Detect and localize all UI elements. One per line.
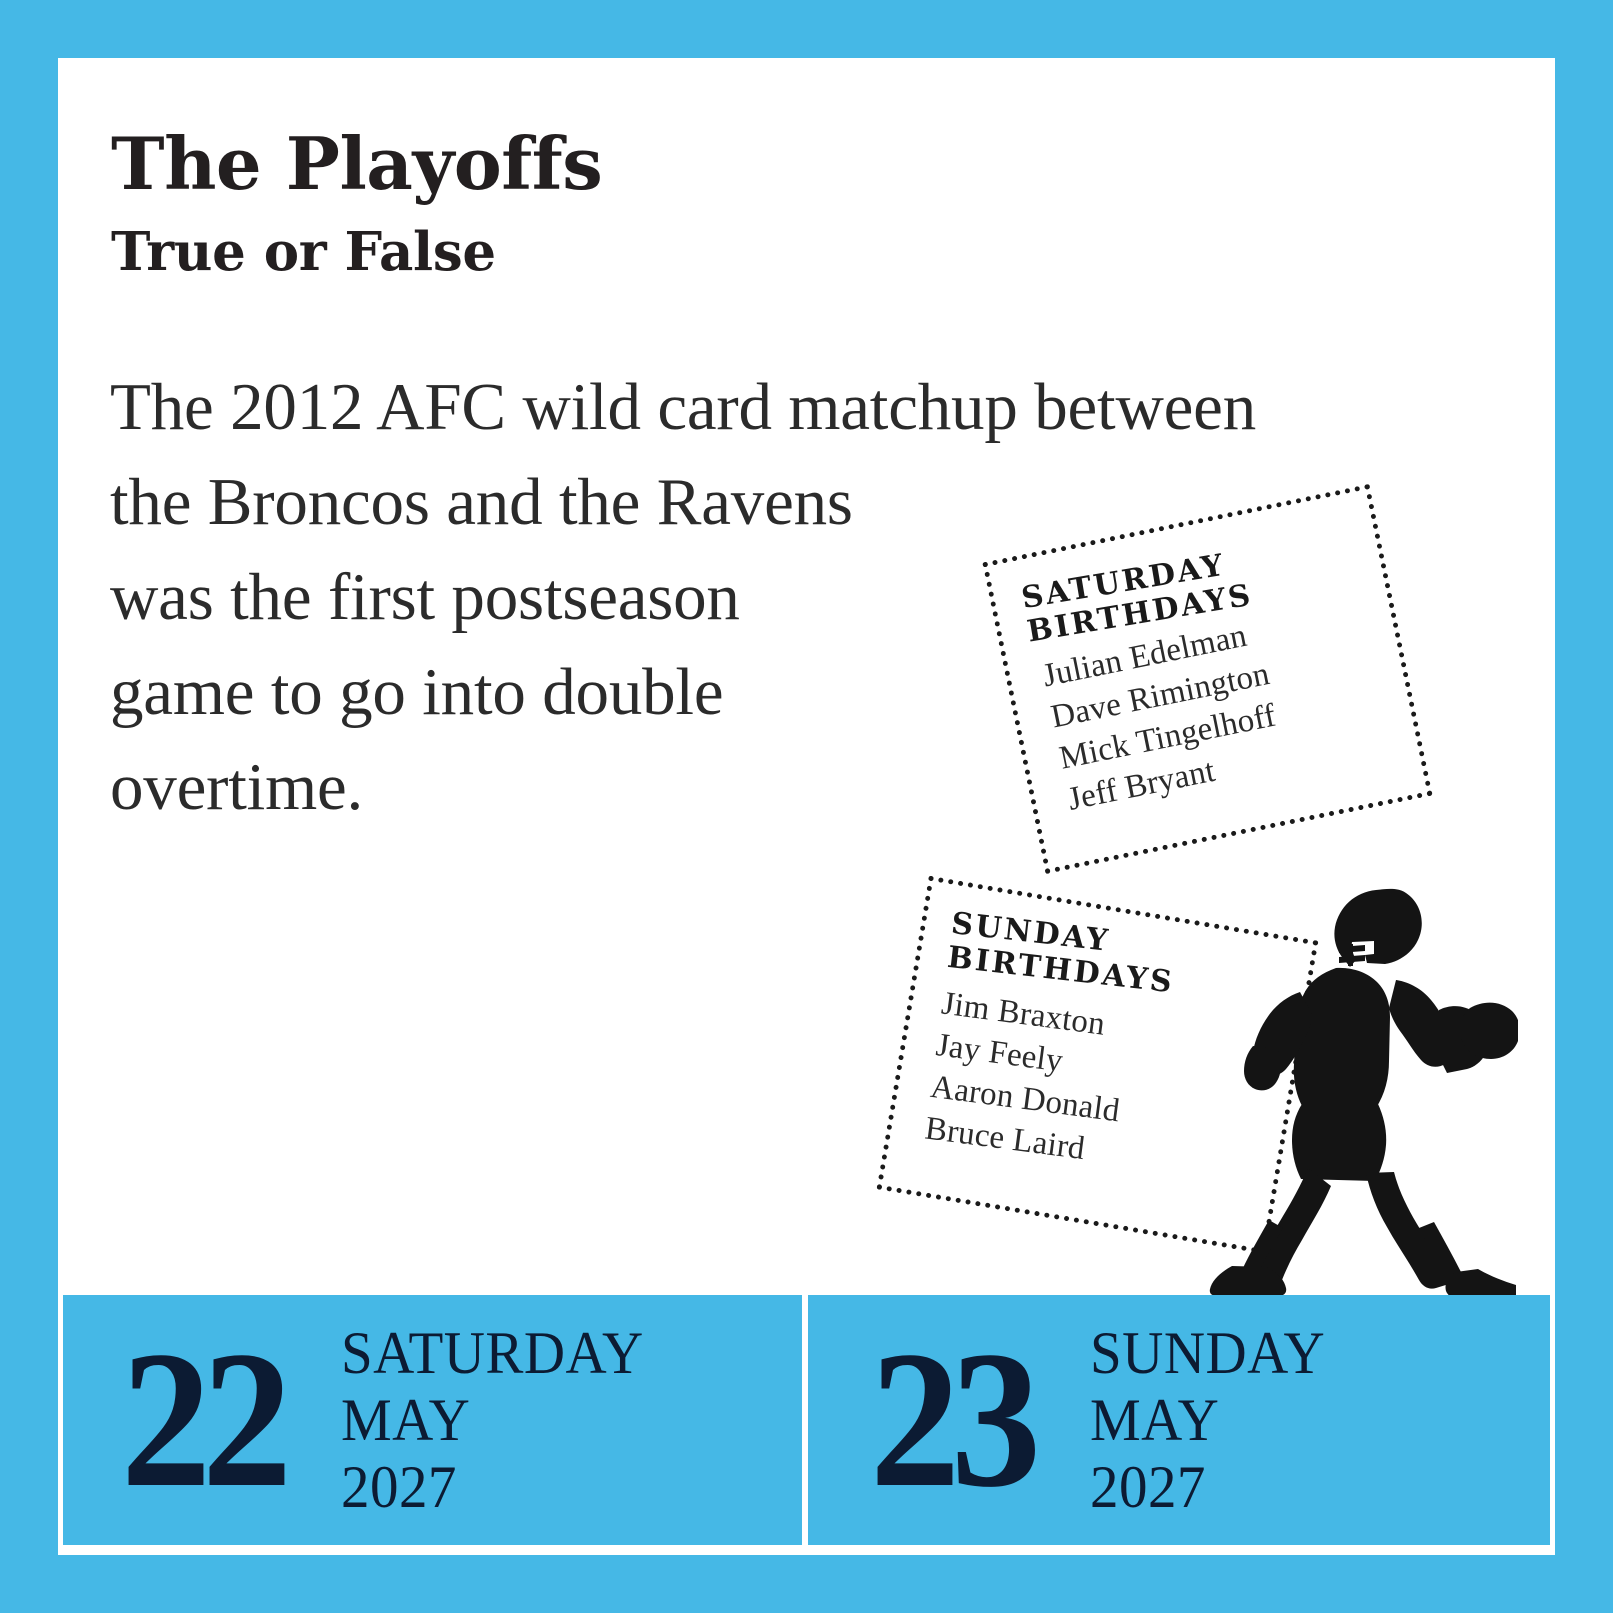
sunday-birthdays-card: SUNDAY BIRTHDAYS Jim Braxton Jay Feely A… [876, 876, 1318, 1255]
year-label: 2027 [341, 1454, 644, 1521]
weekday-label: SATURDAY [341, 1320, 644, 1387]
page-title: The Playoffs [111, 125, 1111, 203]
page-white-area: The Playoffs True or False The 2012 AFC … [58, 58, 1555, 1555]
month-label: MAY [341, 1387, 644, 1454]
saturday-birthdays-content: SATURDAY BIRTHDAYS Julian Edelman Dave R… [1018, 514, 1405, 822]
day-number-22: 22 [121, 1336, 283, 1504]
year-label: 2027 [1090, 1454, 1325, 1521]
page-header: The Playoffs True or False [111, 125, 1111, 283]
date-bar: 22 SATURDAY MAY 2027 23 SUNDAY MAY 2027 [63, 1295, 1550, 1545]
date-labels-sunday: SUNDAY MAY 2027 [1090, 1320, 1325, 1521]
page-subtitle: True or False [111, 221, 1111, 283]
sunday-birthdays-content: SUNDAY BIRTHDAYS Jim Braxton Jay Feely A… [915, 907, 1296, 1205]
date-labels-saturday: SATURDAY MAY 2027 [341, 1320, 644, 1521]
month-label: MAY [1090, 1387, 1325, 1454]
day-number-23: 23 [870, 1336, 1032, 1504]
sunday-birthdays-list: Jim Braxton Jay Feely Aaron Donald Bruce… [921, 982, 1285, 1194]
weekday-label: SUNDAY [1090, 1320, 1325, 1387]
calendar-page: The Playoffs True or False The 2012 AFC … [0, 0, 1613, 1613]
date-cell-sunday: 23 SUNDAY MAY 2027 [808, 1295, 1551, 1545]
body-line-1: The 2012 AFC wild card matchup between [110, 360, 1510, 455]
date-cell-saturday: 22 SATURDAY MAY 2027 [63, 1295, 802, 1545]
